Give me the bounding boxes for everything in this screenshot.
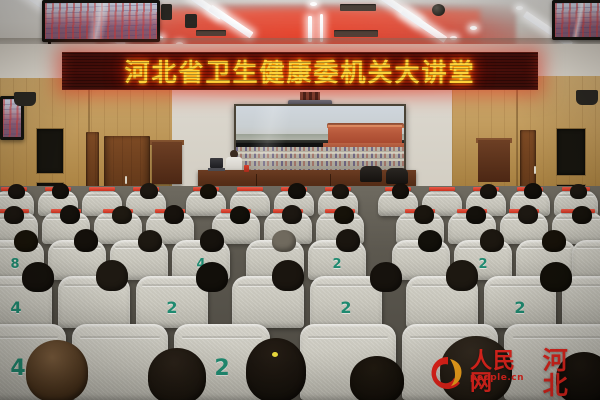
wood-panel-seam [516, 76, 518, 196]
audience-head [332, 184, 349, 199]
seat-placard [429, 187, 455, 191]
watermark-province: 河北 [543, 348, 595, 398]
led-scanlines [62, 53, 538, 89]
acoustic-panel-left [36, 128, 64, 174]
ceiling-vent [196, 30, 226, 36]
door-handle-left[interactable] [125, 176, 127, 184]
ceiling-downlight [516, 6, 523, 10]
audience-head [112, 206, 132, 224]
seat-crease [182, 336, 263, 338]
conference-hall-photo: 河北省卫生健康委机关大讲堂 [0, 0, 600, 400]
audience-head [272, 230, 296, 252]
laptop [208, 158, 224, 171]
seat-crease [233, 194, 267, 196]
red-cup [244, 165, 249, 172]
audience-head [480, 184, 497, 199]
audience-head [164, 205, 184, 224]
seat-crease [425, 194, 459, 196]
audience-head [60, 205, 80, 224]
wall-monitor-left [42, 0, 160, 42]
seat-crease [308, 336, 389, 338]
watermark-url: people.cn [470, 373, 524, 383]
stage-chair [386, 168, 408, 184]
audience-head [230, 206, 250, 224]
audience-head [572, 206, 592, 224]
ceiling-downlight [310, 2, 317, 6]
seat-placard [89, 187, 115, 191]
audience-head [282, 205, 302, 224]
laptop-base [208, 168, 225, 171]
ceiling-vent [334, 30, 378, 37]
seat-number: 2 [484, 298, 556, 317]
audience-head [272, 260, 304, 291]
seat-number: 2 [136, 298, 208, 317]
audience-head-foreground [350, 356, 404, 400]
audience-head [466, 206, 486, 224]
led-banner: 河北省卫生健康委机关大讲堂 [62, 52, 538, 90]
audience-head [14, 230, 38, 252]
ceiling-speaker [185, 14, 197, 28]
seat-crease [80, 336, 161, 338]
people-cn-logo-icon [430, 355, 466, 391]
seat-number: 2 [308, 257, 366, 272]
speaker-presenter [226, 150, 242, 172]
audience-head [414, 205, 434, 224]
audience-head [480, 229, 504, 252]
seat-crease [567, 284, 600, 286]
audience-head [392, 183, 409, 199]
audience-head [336, 229, 360, 252]
seat-crease [85, 194, 119, 196]
audience-head [446, 260, 478, 291]
wall-speaker-right [576, 90, 598, 105]
seat-crease [316, 284, 377, 286]
seat-crease [0, 336, 58, 338]
audience-head-foreground [148, 348, 206, 400]
seat-crease [576, 246, 600, 248]
hair-tie [272, 352, 278, 357]
audience-head [52, 183, 69, 199]
audience-head [196, 262, 228, 292]
audience-head [4, 206, 24, 224]
audience-head-foreground [246, 338, 306, 400]
wall-speaker-left [14, 92, 36, 106]
ceiling-vent [340, 4, 376, 11]
lectern-left [152, 142, 182, 184]
audience-head [74, 229, 98, 252]
audience-head [418, 230, 442, 252]
audience-head [540, 262, 572, 292]
ceiling-speaker [161, 4, 172, 20]
lectern-right [478, 140, 510, 182]
audience-head [518, 205, 538, 224]
audience-head [370, 262, 402, 292]
audience-head [96, 260, 128, 291]
people-cn-logo-svg [430, 355, 466, 391]
tiananmen-gate [328, 125, 402, 144]
seat-number: 2 [310, 298, 382, 317]
audience-head [22, 262, 54, 292]
audience-head [8, 184, 25, 199]
audience-head [334, 206, 354, 224]
audience-head [288, 183, 306, 199]
seat-number: 4 [0, 298, 52, 317]
audience-head [570, 184, 587, 199]
wall-monitor-right [552, 0, 600, 40]
seat-crease [142, 284, 203, 286]
audience-head [524, 183, 542, 199]
stage-chair [360, 166, 382, 182]
audience-head [140, 183, 158, 199]
seat[interactable] [572, 240, 600, 280]
acoustic-panel-right [556, 128, 586, 176]
watermark: 人民网 people.cn 河北 [430, 352, 595, 394]
audience-head [200, 184, 217, 199]
audience-head [200, 229, 224, 252]
door-handle-right[interactable] [534, 166, 536, 174]
audience-head-foreground [26, 340, 88, 400]
audience-head [542, 230, 566, 252]
laptop-screen [210, 158, 223, 168]
ceiling-downlight [470, 26, 477, 30]
security-camera-icon [432, 4, 445, 16]
audience-head [138, 230, 162, 252]
seat-placard [237, 187, 263, 191]
seat-crease [513, 336, 600, 338]
